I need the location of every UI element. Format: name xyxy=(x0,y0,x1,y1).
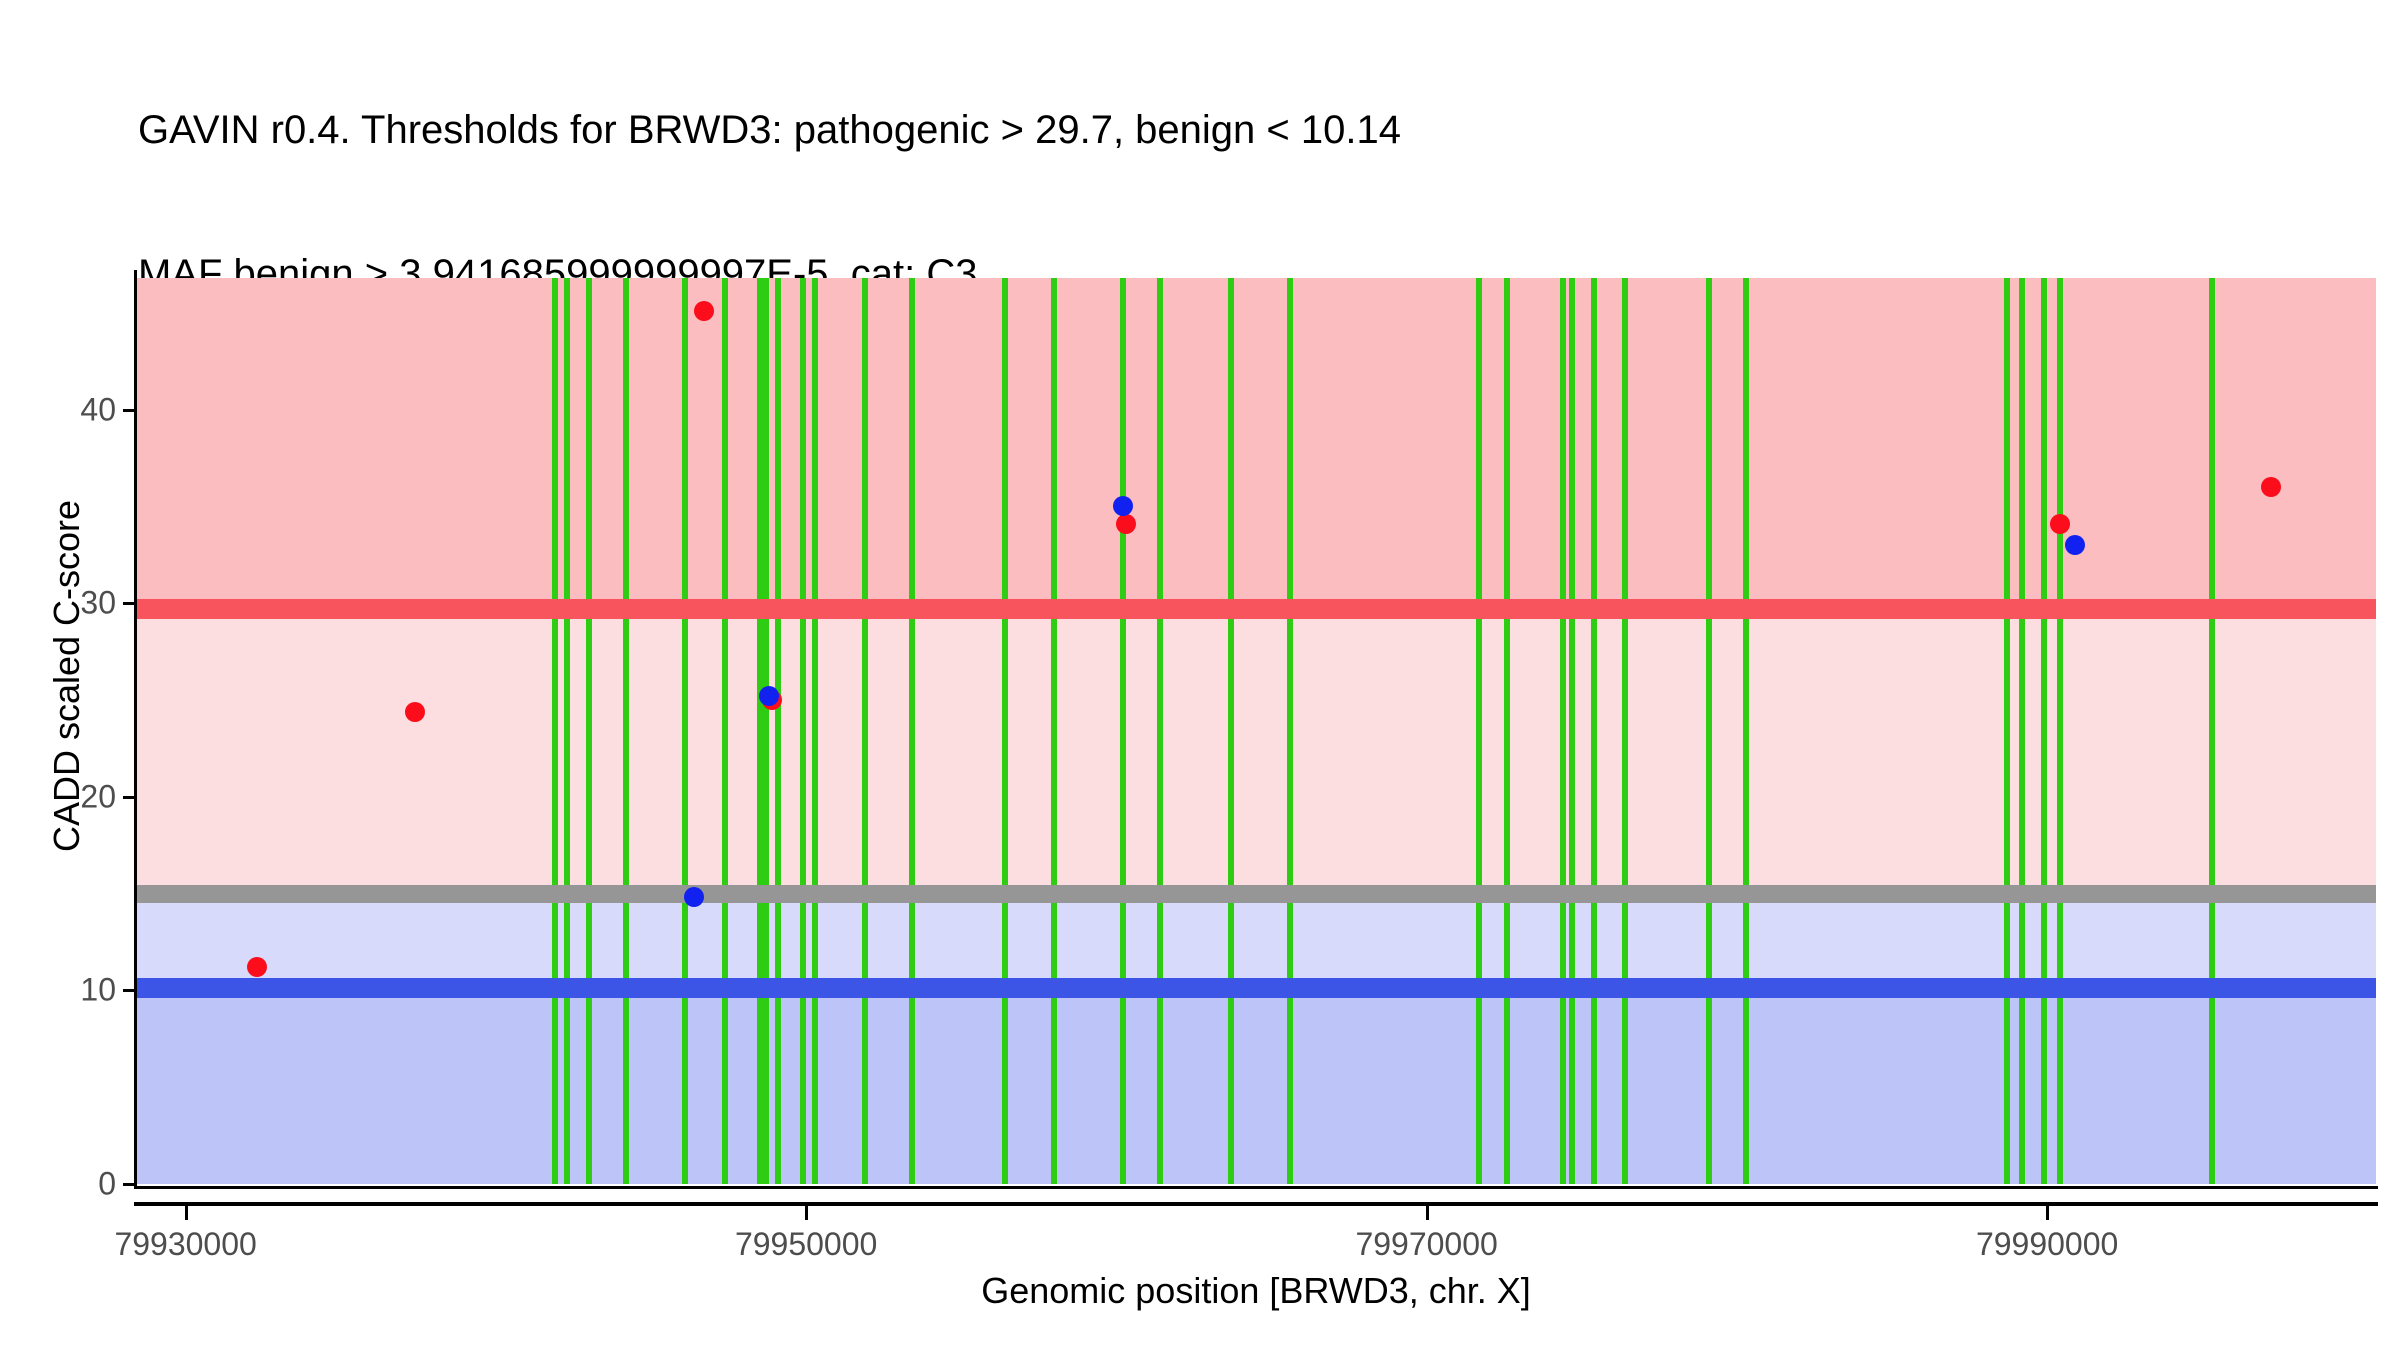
plot-panel xyxy=(136,278,2376,1184)
y-tick-label: 20 xyxy=(20,778,116,815)
y-tick xyxy=(123,1183,135,1186)
pathogenic-variant-point xyxy=(2050,514,2070,534)
x-tick-label: 79990000 xyxy=(1976,1226,2118,1263)
x-tick xyxy=(2046,1206,2049,1220)
exon-line xyxy=(1504,278,1510,1184)
exon-line xyxy=(1157,278,1163,1184)
exon-line xyxy=(1002,278,1008,1184)
x-axis-label: Genomic position [BRWD3, chr. X] xyxy=(136,1270,2376,1312)
exon-line xyxy=(1120,278,1126,1184)
exon-line xyxy=(800,278,806,1184)
exon-line xyxy=(763,278,769,1184)
pathogenic-variant-point xyxy=(694,301,714,321)
exon-line xyxy=(1051,278,1057,1184)
x-tick xyxy=(185,1206,188,1220)
x-tick-label: 79930000 xyxy=(114,1226,256,1263)
exon-line xyxy=(862,278,868,1184)
exon-line xyxy=(682,278,688,1184)
exon-line xyxy=(1287,278,1293,1184)
band-pathogenic xyxy=(136,278,2376,609)
y-tick-label: 10 xyxy=(20,972,116,1009)
y-axis-label: CADD scaled C-score xyxy=(46,326,88,1026)
exon-line xyxy=(2057,278,2063,1184)
exon-line xyxy=(1560,278,1566,1184)
pathogenic-threshold-line xyxy=(136,599,2376,619)
exon-line xyxy=(812,278,818,1184)
exon-line xyxy=(1476,278,1482,1184)
exon-line xyxy=(1228,278,1234,1184)
y-tick-label: 0 xyxy=(20,1166,116,1203)
exon-line xyxy=(2209,278,2215,1184)
x-tick xyxy=(1426,1206,1429,1220)
exon-line xyxy=(1591,278,1597,1184)
gnomad-variant-point xyxy=(759,686,779,706)
y-tick xyxy=(123,409,135,412)
y-tick xyxy=(123,602,135,605)
exon-line xyxy=(909,278,915,1184)
exon-line xyxy=(2004,278,2010,1184)
exon-line xyxy=(623,278,629,1184)
exon-line xyxy=(2019,278,2025,1184)
exon-line xyxy=(552,278,558,1184)
y-tick-label: 40 xyxy=(20,391,116,428)
x-axis-line xyxy=(134,1202,2378,1206)
x-tick-label: 79970000 xyxy=(1355,1226,1497,1263)
x-tick xyxy=(805,1206,808,1220)
band-vus-lower xyxy=(136,894,2376,988)
pathogenic-variant-point xyxy=(1116,514,1136,534)
panel-bottom-line xyxy=(134,1186,2378,1189)
gnomad-variant-point xyxy=(1113,496,1133,516)
y-tick xyxy=(123,796,135,799)
pathogenic-variant-point xyxy=(2261,477,2281,497)
exon-line xyxy=(2041,278,2047,1184)
y-tick xyxy=(123,989,135,992)
exon-line xyxy=(775,278,781,1184)
exon-line xyxy=(1706,278,1712,1184)
exon-line xyxy=(586,278,592,1184)
exon-line xyxy=(1743,278,1749,1184)
chart-root: GAVIN r0.4. Thresholds for BRWD3: pathog… xyxy=(0,0,2400,1350)
fallback-threshold-line xyxy=(136,885,2376,903)
x-tick-label: 79950000 xyxy=(735,1226,877,1263)
band-vus-upper xyxy=(136,609,2376,894)
exon-line xyxy=(1569,278,1575,1184)
exon-line xyxy=(757,278,763,1184)
benign-threshold-line xyxy=(136,978,2376,998)
pathogenic-variant-point xyxy=(405,702,425,722)
y-tick-label: 30 xyxy=(20,585,116,622)
exon-line xyxy=(564,278,570,1184)
exon-line xyxy=(722,278,728,1184)
title-line-1: GAVIN r0.4. Thresholds for BRWD3: pathog… xyxy=(138,106,2338,154)
exon-line xyxy=(1622,278,1628,1184)
band-benign xyxy=(136,988,2376,1184)
